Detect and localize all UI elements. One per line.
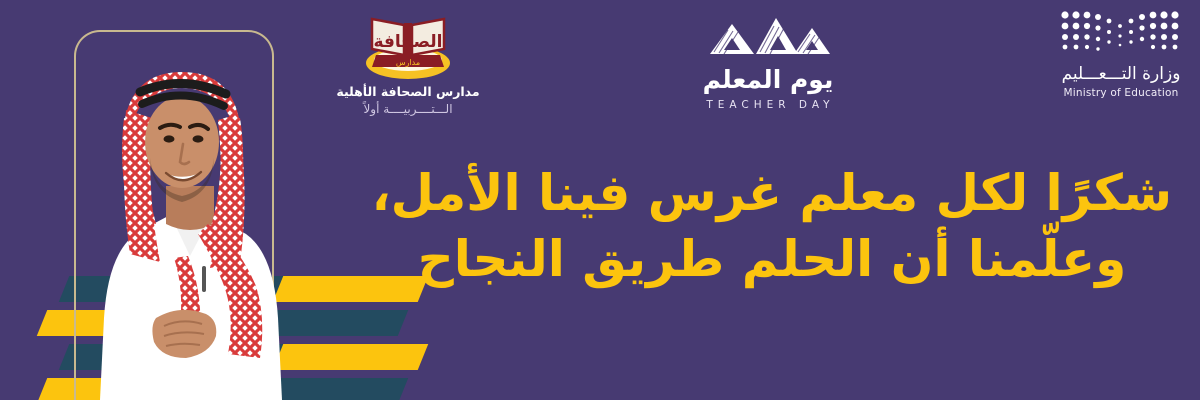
school-tagline: الـــتــــربيــــة أولاً bbox=[318, 102, 498, 116]
teacher-day-banner: الصحافة مدارس مدارس الصحافة الأهلية الــ… bbox=[0, 0, 1200, 400]
svg-text:مدارس: مدارس bbox=[396, 58, 420, 67]
headline: شكرًا لكل معلم غرس فينا الأمل، وعلّمنا أ… bbox=[372, 160, 1172, 292]
school-name: مدارس الصحافة الأهلية bbox=[318, 84, 498, 99]
ministry-of-education-dots-logo bbox=[1046, 8, 1196, 56]
headline-line-1: شكرًا لكل معلم غرس فينا الأمل، bbox=[372, 160, 1172, 226]
open-book-crest-logo: الصحافة مدارس bbox=[318, 4, 498, 82]
svg-text:الصحافة: الصحافة bbox=[373, 32, 442, 52]
ministry-title-ar: وزارة التـــعـــليم bbox=[1046, 64, 1196, 84]
portrait-photo bbox=[60, 18, 300, 400]
school-logo: الصحافة مدارس مدارس الصحافة الأهلية الــ… bbox=[318, 4, 498, 116]
teacher-day-logo: يوم المعلم TEACHER DAY bbox=[678, 6, 858, 111]
teacher-day-title-en: TEACHER DAY bbox=[678, 99, 858, 111]
teacher-day-calligraphy-mark bbox=[678, 6, 858, 64]
ministry-title-en: Ministry of Education bbox=[1046, 87, 1196, 99]
ministry-logo: وزارة التـــعـــليم Ministry of Educatio… bbox=[1046, 8, 1196, 99]
teacher-day-title-ar: يوم المعلم bbox=[678, 66, 858, 94]
headline-line-2: وعلّمنا أن الحلم طريق النجاح bbox=[372, 226, 1172, 292]
